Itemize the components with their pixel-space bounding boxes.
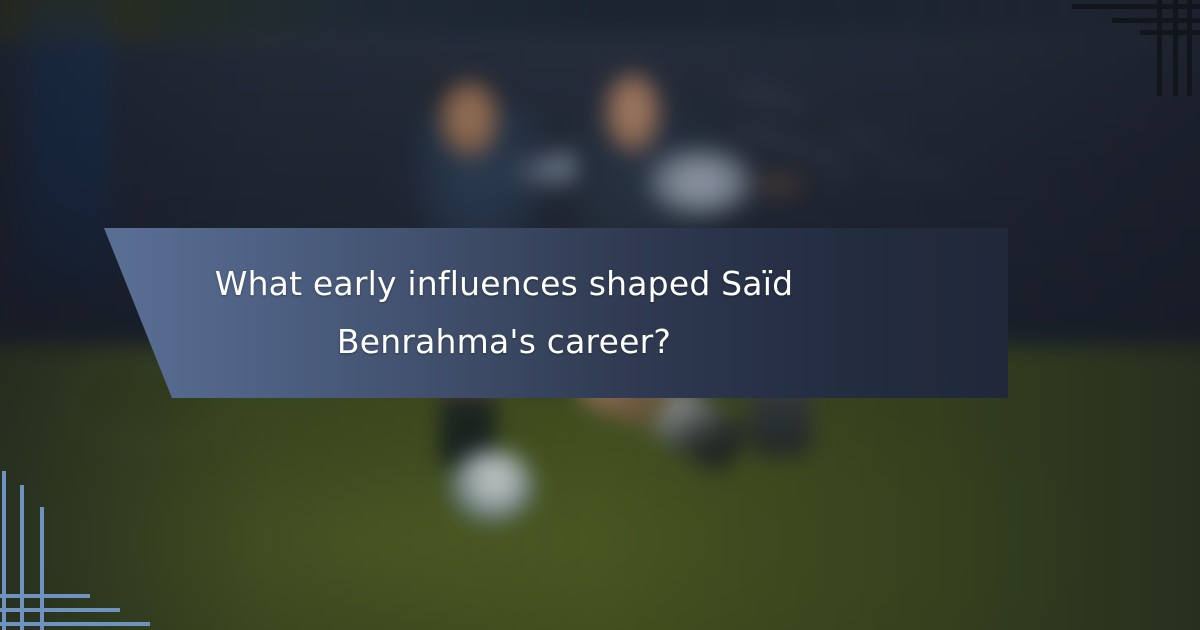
player-right-head [604,74,662,154]
soccer-ball [450,450,534,522]
tr-vline-1 [1157,0,1162,96]
player-left-head [438,82,500,158]
tr-vline-3 [1187,0,1192,96]
corner-bracket-bottom-left [0,455,180,630]
title-line-2: Benrahma's career? [337,313,671,371]
bl-hline-2 [0,608,120,612]
tr-hline-1 [1072,4,1200,9]
corner-bracket-top-right [1030,0,1200,96]
title-line-1: What early influences shaped Saïd [215,255,794,313]
title-banner-text: What early influences shaped Saïd Benrah… [0,228,1008,398]
tr-vline-2 [1173,0,1178,96]
bl-hline-3 [0,622,150,626]
birds-silhouette [720,78,970,198]
share-card: What early influences shaped Saïd Benrah… [0,0,1200,630]
bl-hline-1 [0,594,90,598]
bl-vline-1 [2,471,6,630]
